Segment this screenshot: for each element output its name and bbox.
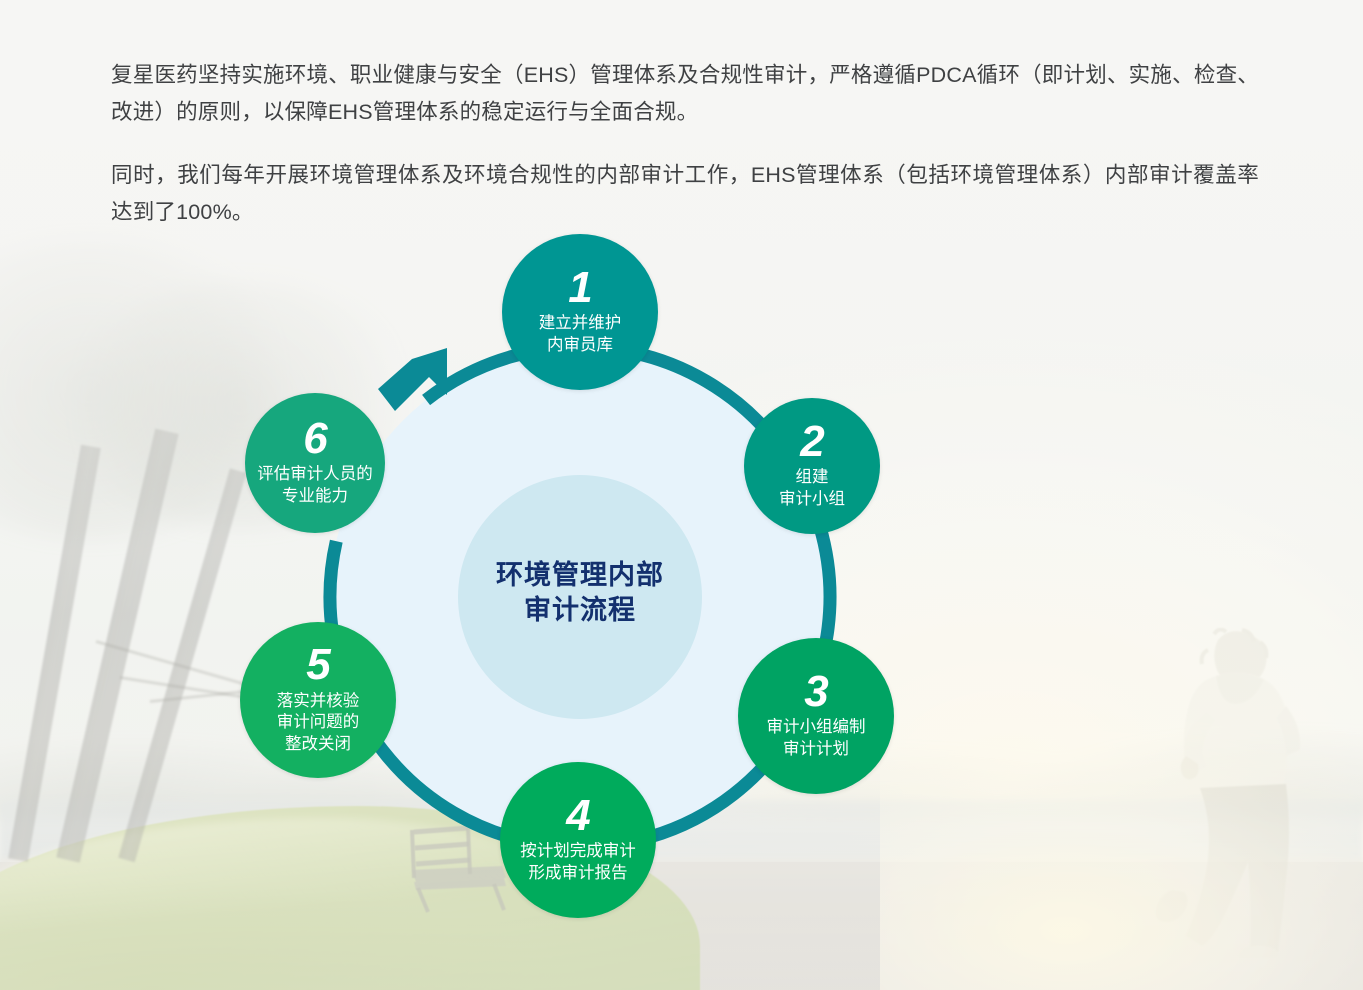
cycle-step-6[interactable]: 6 评估审计人员的 专业能力 (245, 393, 385, 533)
cycle-step-6-label: 评估审计人员的 专业能力 (257, 464, 373, 508)
cycle-step-2-number: 2 (800, 421, 823, 462)
cycle-step-1[interactable]: 1 建立并维护 内审员库 (502, 234, 658, 390)
cycle-step-5-number: 5 (306, 644, 329, 685)
cycle-step-3-number: 3 (804, 671, 827, 712)
cycle-step-4[interactable]: 4 按计划完成审计 形成审计报告 (500, 762, 656, 918)
intro-paragraph-2: 同时，我们每年开展环境管理体系及环境合规性的内部审计工作，EHS管理体系（包括环… (111, 157, 1259, 231)
cycle-step-6-number: 6 (303, 418, 326, 459)
cycle-step-5-label: 落实并核验 审计问题的 整改关闭 (277, 691, 360, 756)
cycle-step-2[interactable]: 2 组建 审计小组 (744, 398, 880, 534)
cycle-step-3-label: 审计小组编制 审计计划 (767, 717, 866, 761)
intro-text-block: 复星医药坚持实施环境、职业健康与安全（EHS）管理体系及合规性审计，严格遵循PD… (111, 57, 1259, 231)
page-root: 复星医药坚持实施环境、职业健康与安全（EHS）管理体系及合规性审计，严格遵循PD… (0, 0, 1363, 990)
cycle-step-4-label: 按计划完成审计 形成审计报告 (520, 841, 636, 885)
cycle-step-2-label: 组建 审计小组 (779, 467, 845, 511)
cycle-step-4-number: 4 (566, 795, 589, 836)
cycle-step-1-number: 1 (568, 267, 591, 308)
cycle-step-5[interactable]: 5 落实并核验 审计问题的 整改关闭 (240, 622, 396, 778)
cycle-center-title: 环境管理内部 审计流程 (450, 558, 710, 628)
cycle-step-1-label: 建立并维护 内审员库 (539, 313, 622, 357)
intro-paragraph-1: 复星医药坚持实施环境、职业健康与安全（EHS）管理体系及合规性审计，严格遵循PD… (111, 57, 1259, 131)
cycle-step-3[interactable]: 3 审计小组编制 审计计划 (738, 638, 894, 794)
